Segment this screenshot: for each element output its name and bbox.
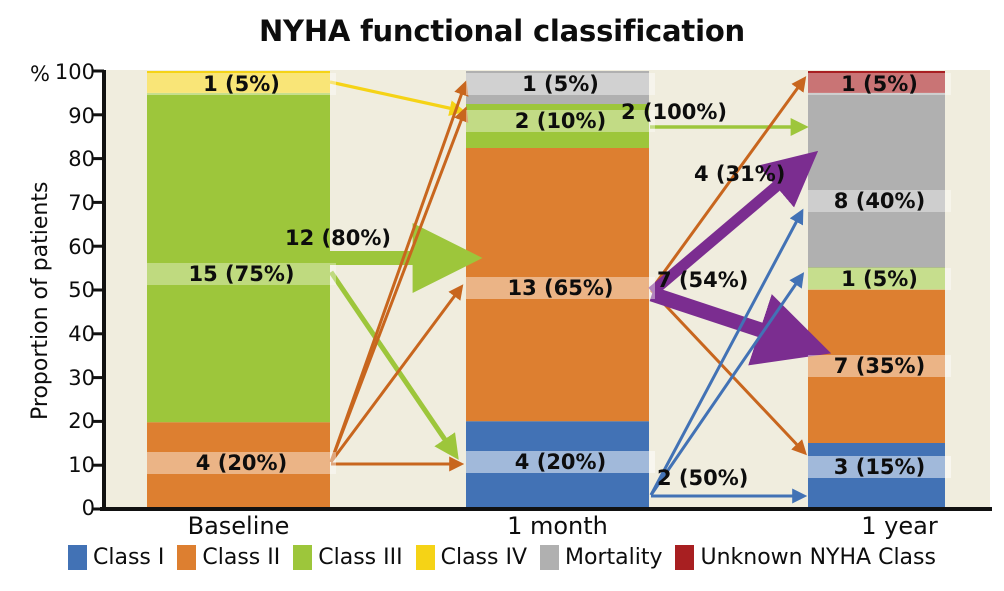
legend-swatch-class-2-icon: [177, 545, 196, 570]
legend-swatch-unknown-icon: [675, 545, 694, 570]
bar-one-year-label-unknown: 1 (5%): [808, 73, 951, 95]
bar-one-year-label-mortality: 8 (40%): [808, 190, 951, 212]
flow-label-7-54: 7 (54%): [657, 268, 748, 292]
flow-label-12-80: 12 (80%): [285, 226, 391, 250]
bar-one-year-seg-mortality: [808, 93, 945, 268]
bar-one-month-label-mortality: 1 (5%): [466, 73, 655, 95]
legend-label-unknown-nyha-class: Unknown NYHA Class: [700, 545, 935, 570]
bar-one-month-label-class2: 13 (65%): [466, 277, 655, 299]
legend-item-class-3[interactable]: Class III: [293, 545, 402, 570]
bar-baseline-label-class4: 1 (5%): [147, 73, 336, 95]
legend-label-class-4: Class IV: [441, 545, 527, 570]
bar-baseline-label-class2: 4 (20%): [147, 452, 336, 474]
legend-swatch-class-4-icon: [416, 545, 435, 570]
bar-one-month-label-class1: 4 (20%): [466, 451, 655, 473]
legend-item-class-1[interactable]: Class I: [68, 545, 164, 570]
nyha-classification-chart: NYHA functional classification % Proport…: [0, 0, 1004, 591]
bar-baseline-seg-class3: [147, 93, 330, 422]
flow-label-2-50: 2 (50%): [657, 466, 748, 490]
legend-label-class-1: Class I: [93, 545, 164, 570]
bar-baseline: [147, 71, 330, 509]
legend-item-unknown-nyha-class[interactable]: Unknown NYHA Class: [675, 545, 935, 570]
flow-label-2-100: 2 (100%): [621, 100, 727, 124]
bar-baseline-label-class3: 15 (75%): [147, 263, 336, 285]
legend-label-class-2: Class II: [202, 545, 280, 570]
legend-item-class-4[interactable]: Class IV: [416, 545, 527, 570]
flow-label-4-31: 4 (31%): [694, 162, 785, 186]
legend-label-mortality: Mortality: [565, 545, 662, 570]
bar-one-year-label-class1: 3 (15%): [808, 456, 951, 478]
bar-one-year-label-class3: 1 (5%): [808, 268, 951, 290]
legend-swatch-mortality-icon: [540, 545, 559, 570]
bar-one-year-label-class2: 7 (35%): [808, 355, 951, 377]
legend-swatch-class-1-icon: [68, 545, 87, 570]
legend-swatch-class-3-icon: [293, 545, 312, 570]
legend-label-class-3: Class III: [318, 545, 402, 570]
legend-item-class-2[interactable]: Class II: [177, 545, 280, 570]
chart-legend: Class I Class II Class III Class IV Mort…: [0, 545, 1004, 570]
legend-item-mortality[interactable]: Mortality: [540, 545, 662, 570]
